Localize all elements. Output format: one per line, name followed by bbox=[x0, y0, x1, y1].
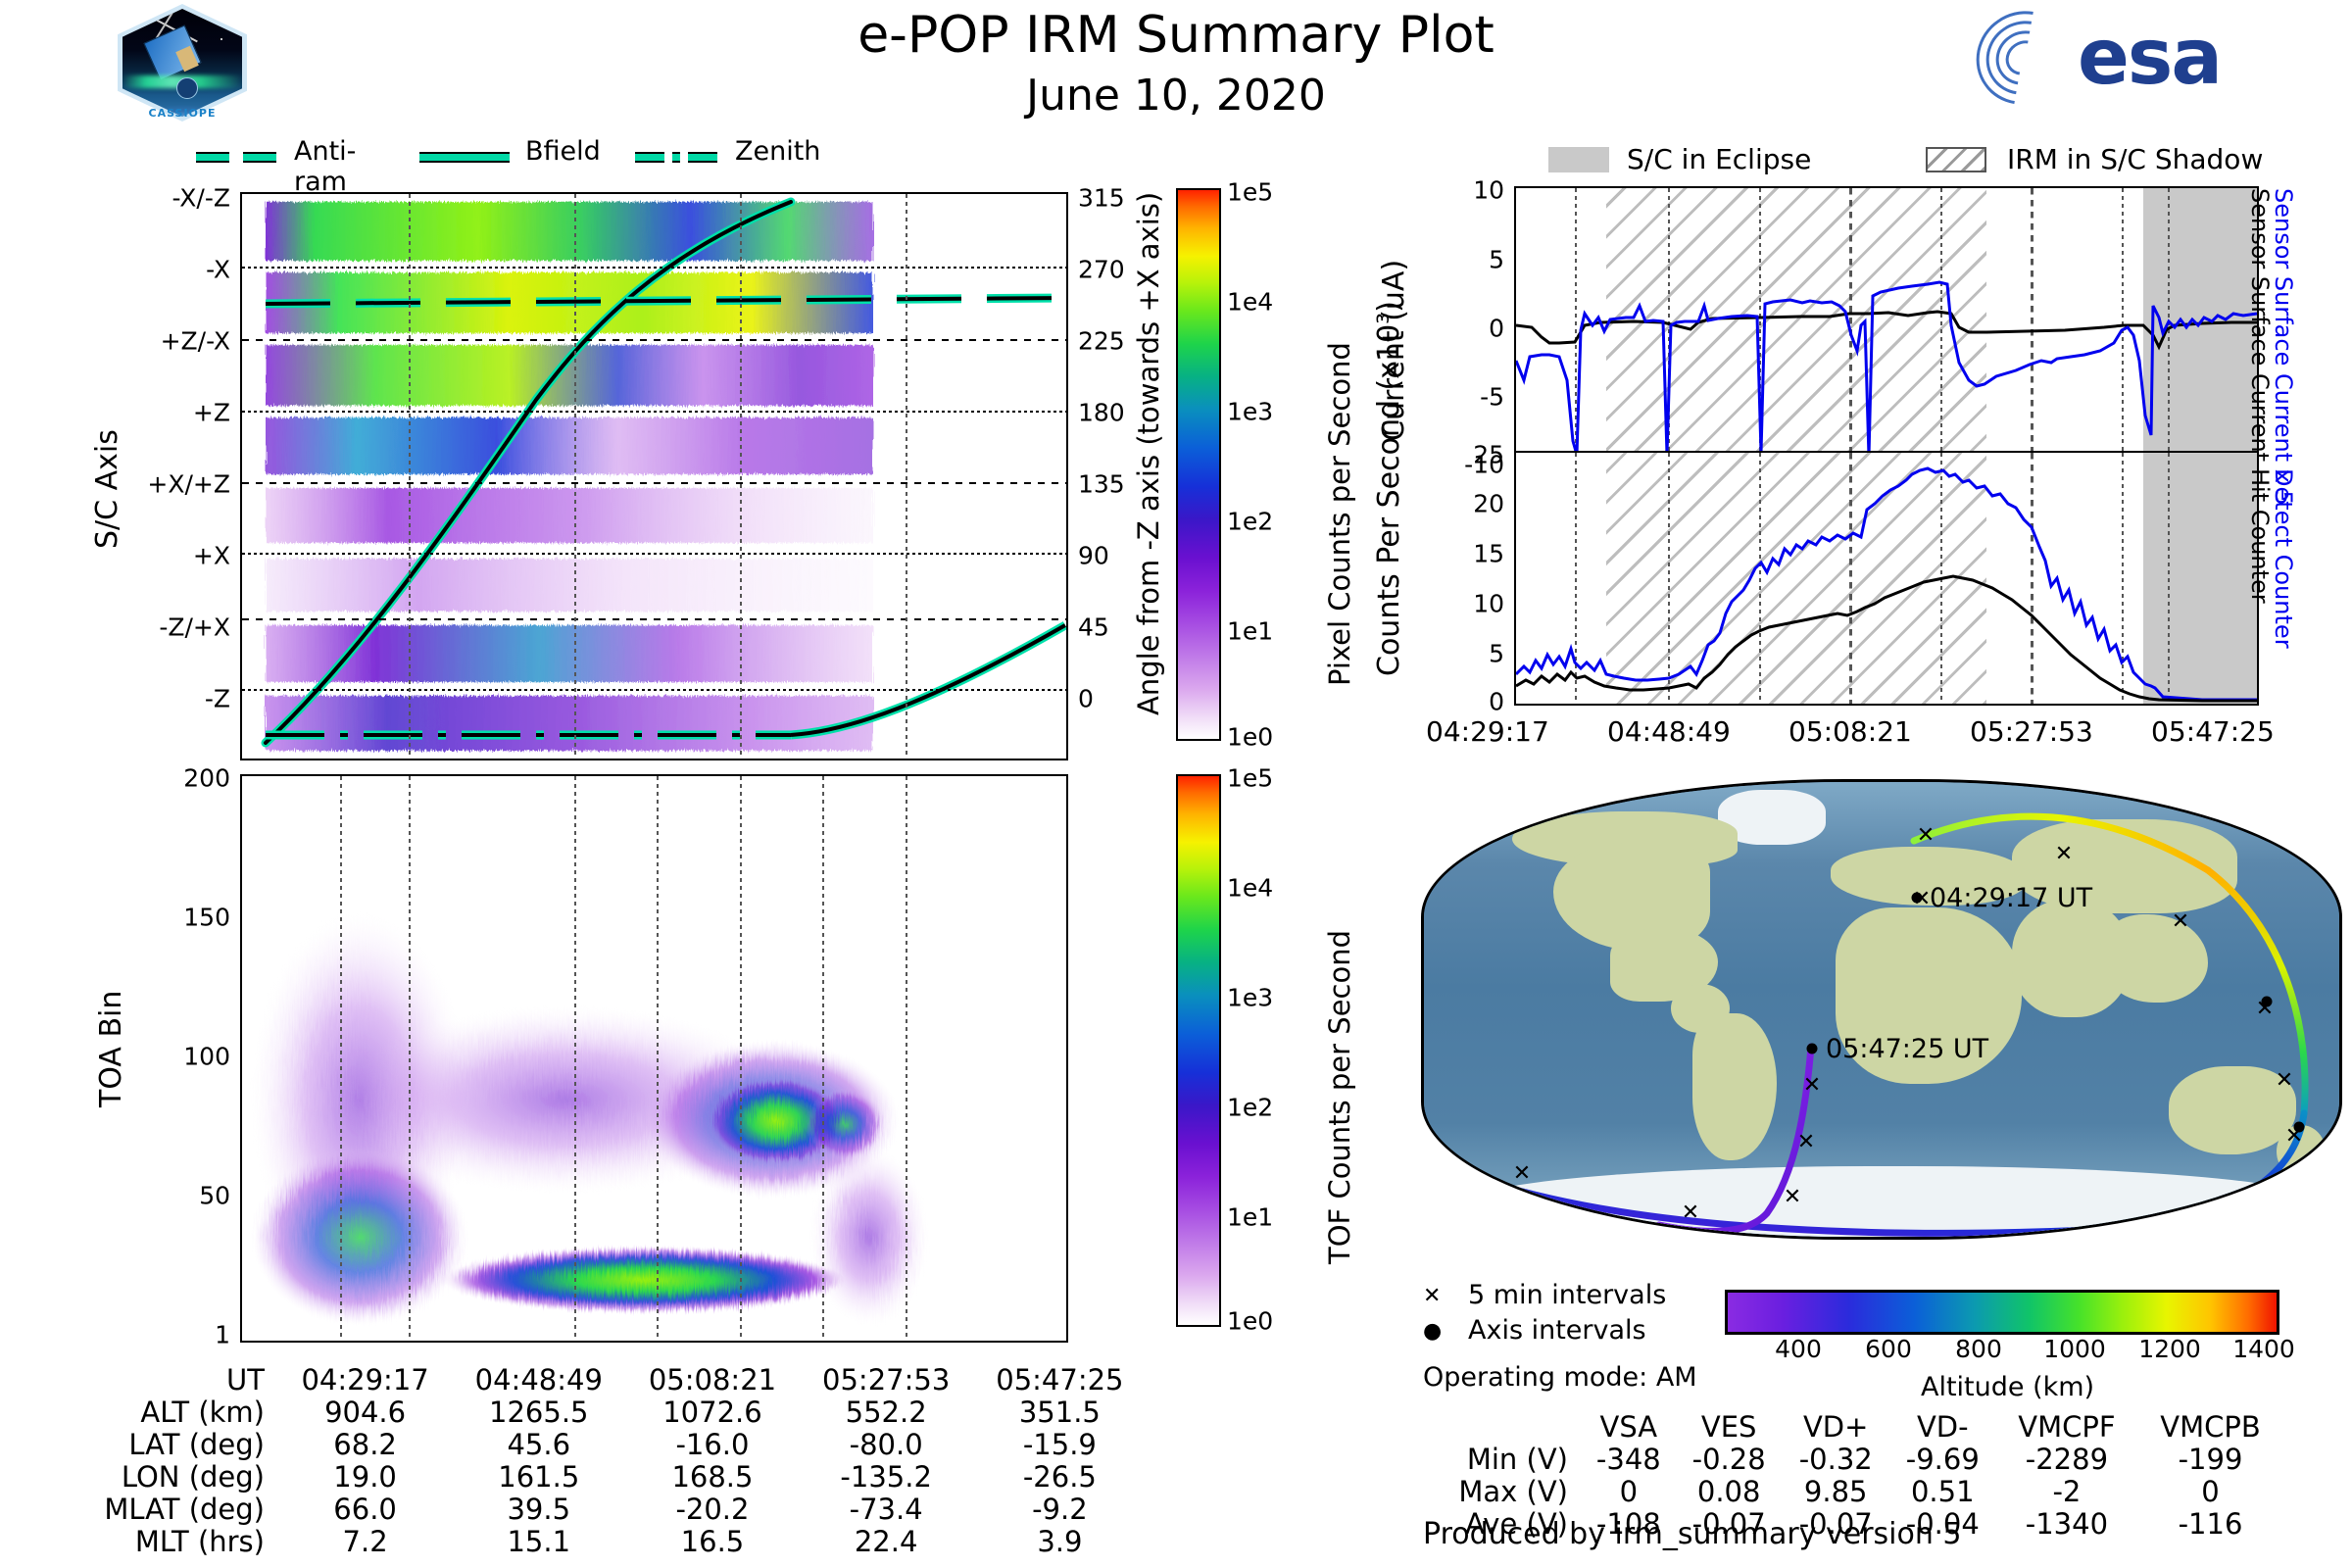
operating-mode: Operating mode: AM bbox=[1423, 1362, 1697, 1393]
alt-tick-800: 800 bbox=[1955, 1335, 2002, 1363]
interval-marker-x: ✕ bbox=[1917, 825, 1935, 847]
cassiope-logo-label: CASSIOPE bbox=[118, 107, 247, 120]
angle-ytick-6: 45 bbox=[1068, 613, 1109, 642]
counts-ytick-20: 20 bbox=[1473, 490, 1514, 518]
cb2-tick-1e0: 1e0 bbox=[1227, 1307, 1273, 1336]
table-row: Min (V) -348 -0.28 -0.32 -9.69 -2289 -19… bbox=[1421, 1444, 2283, 1476]
mlt-col-4: 3.9 bbox=[973, 1526, 1147, 1558]
cb1-tick-1e1: 1e1 bbox=[1227, 617, 1273, 646]
footer-produced-by: Produced by irm_summary version 5 bbox=[1423, 1517, 1961, 1551]
start-marker-dot bbox=[1912, 893, 1923, 904]
alt-tick-400: 400 bbox=[1775, 1335, 1822, 1363]
table-row: LAT (deg) 68.2 45.6 -16.0 -80.0 -15.9 bbox=[39, 1429, 1147, 1461]
angle-ytick-3: 180 bbox=[1068, 399, 1125, 427]
cassiope-logo: CASSIOPE bbox=[118, 4, 247, 122]
current-ytick-0: 0 bbox=[1489, 315, 1514, 343]
sc-axis-ytick-5: +X bbox=[193, 542, 240, 570]
cb1-tick-1e2: 1e2 bbox=[1227, 508, 1273, 536]
ave-vmcpf: -1340 bbox=[1996, 1508, 2137, 1541]
axis-interval-marker-dot bbox=[2294, 1122, 2305, 1133]
altitude-colorbar-label: Altitude (km) bbox=[1921, 1372, 2094, 1402]
counts-xtick-1: 04:48:49 bbox=[1607, 715, 1731, 748]
legend-anti-ram-label: Anti-ram bbox=[294, 136, 356, 197]
interval-marker-x: ✕ bbox=[1797, 1132, 1815, 1153]
current-ytick-10: 10 bbox=[1473, 176, 1514, 205]
row-label-ut: UT bbox=[39, 1364, 278, 1396]
shading-legend: S/C in Eclipse IRM in S/C Shadow bbox=[1548, 145, 2274, 178]
end-marker-dot bbox=[1807, 1044, 1818, 1054]
sc-axis-ytick-4: +X/+Z bbox=[147, 470, 240, 499]
alt-col-3: 552.2 bbox=[800, 1396, 973, 1429]
cb2-tick-1e1: 1e1 bbox=[1227, 1203, 1273, 1232]
max-vsa: 0 bbox=[1582, 1476, 1676, 1508]
lon-col-0: 19.0 bbox=[278, 1461, 452, 1494]
max-vdp: 9.85 bbox=[1783, 1476, 1889, 1508]
alt-tick-1400: 1400 bbox=[2232, 1335, 2295, 1363]
vrow-label-min: Min (V) bbox=[1421, 1444, 1582, 1476]
interval-marker-x: ✕ bbox=[1784, 1187, 1801, 1208]
orbit-map[interactable]: ✕ ✕ ✕ ✕ ✕ ✕ ✕ ✕ ✕ ✕ ✕ ✕ ✕ ✕ 04:29:17 UT … bbox=[1421, 779, 2342, 1240]
counts-ytick-0: 0 bbox=[1489, 688, 1514, 716]
mlat-col-4: -9.2 bbox=[973, 1494, 1147, 1526]
cb1-tick-1e5: 1e5 bbox=[1227, 178, 1273, 207]
alt-col-4: 351.5 bbox=[973, 1396, 1147, 1429]
altitude-colorbar bbox=[1725, 1290, 2279, 1335]
sc-axis-ytick-7: -Z bbox=[205, 685, 240, 713]
counts-ylabel: Counts Per Second (x10³) bbox=[1372, 431, 1407, 676]
toa-ytick-50: 50 bbox=[199, 1182, 240, 1210]
toa-bin-spectrogram-canvas bbox=[242, 776, 1066, 1341]
max-ves: 0.08 bbox=[1676, 1476, 1783, 1508]
cb2-tick-1e4: 1e4 bbox=[1227, 874, 1273, 903]
toa-ytick-150: 150 bbox=[183, 904, 240, 932]
axis-legend: Anti-ram Bfield Zenith bbox=[176, 140, 725, 173]
toa-bin-plot-area[interactable] bbox=[240, 774, 1068, 1343]
toa-ytick-100: 100 bbox=[183, 1043, 240, 1071]
cb2-tick-1e2: 1e2 bbox=[1227, 1094, 1273, 1122]
counts-ytick-15: 15 bbox=[1473, 540, 1514, 568]
esa-logo: esa bbox=[1972, 8, 2325, 102]
cassiope-badge-icon bbox=[176, 77, 198, 99]
tof-counts-colorbar-label: TOF Counts per Second bbox=[1323, 930, 1356, 1264]
lon-col-2: 168.5 bbox=[625, 1461, 799, 1494]
sc-axis-spectrogram-canvas bbox=[242, 194, 1066, 759]
current-right-label-black: Sensor Surface Current bbox=[2246, 188, 2274, 462]
vcol-vsa: VSA bbox=[1582, 1411, 1676, 1444]
row-label-lon: LON (deg) bbox=[39, 1461, 278, 1494]
ut-col-4: 05:47:25 bbox=[973, 1364, 1147, 1396]
sc-axis-ytick-3: +Z bbox=[193, 399, 240, 427]
alt-tick-1000: 1000 bbox=[2043, 1335, 2106, 1363]
lon-col-3: -135.2 bbox=[800, 1461, 973, 1494]
ut-col-1: 04:48:49 bbox=[452, 1364, 625, 1396]
current-panel: 10 5 0 -5 -10 bbox=[1514, 186, 2259, 470]
counts-series-canvas bbox=[1516, 453, 2257, 704]
legend-zenith-label: Zenith bbox=[735, 136, 820, 167]
table-row: ALT (km) 904.6 1265.5 1072.6 552.2 351.5 bbox=[39, 1396, 1147, 1429]
mlt-col-1: 15.1 bbox=[452, 1526, 625, 1558]
lat-col-3: -80.0 bbox=[800, 1429, 973, 1461]
row-label-alt: ALT (km) bbox=[39, 1396, 278, 1429]
alt-tick-1200: 1200 bbox=[2138, 1335, 2201, 1363]
sc-axis-ytick-1: -X bbox=[206, 256, 240, 284]
cb1-tick-1e4: 1e4 bbox=[1227, 288, 1273, 317]
sc-axis-ylabel: S/C Axis bbox=[90, 429, 124, 549]
min-vmcpf: -2289 bbox=[1996, 1444, 2137, 1476]
current-ytick-n5: -5 bbox=[1480, 383, 1514, 412]
interval-marker-x: ✕ bbox=[2172, 911, 2189, 933]
interval-marker-x: ✕ bbox=[2276, 1070, 2293, 1092]
max-vdm: 0.51 bbox=[1889, 1476, 1996, 1508]
legend-axis-intervals: ● Axis intervals bbox=[1423, 1321, 1697, 1362]
row-label-mlt: MLT (hrs) bbox=[39, 1526, 278, 1558]
mlat-col-2: -20.2 bbox=[625, 1494, 799, 1526]
current-ytick-5: 5 bbox=[1489, 246, 1514, 274]
map-start-time-label: 04:29:17 UT bbox=[1930, 883, 2092, 913]
cb1-tick-1e3: 1e3 bbox=[1227, 398, 1273, 426]
vcol-vdp: VD+ bbox=[1783, 1411, 1889, 1444]
angle-ytick-4: 135 bbox=[1068, 470, 1125, 499]
current-plot-area[interactable] bbox=[1514, 186, 2259, 470]
table-row: Max (V) 0 0.08 9.85 0.51 -2 0 bbox=[1421, 1476, 2283, 1508]
ut-col-0: 04:29:17 bbox=[278, 1364, 452, 1396]
alt-col-0: 904.6 bbox=[278, 1396, 452, 1429]
lat-col-2: -16.0 bbox=[625, 1429, 799, 1461]
mlt-col-0: 7.2 bbox=[278, 1526, 452, 1558]
table-header-row: VSA VES VD+ VD- VMCPF VMCPB bbox=[1421, 1411, 2283, 1444]
angle-ytick-2: 225 bbox=[1068, 327, 1125, 356]
cb2-tick-1e5: 1e5 bbox=[1227, 764, 1273, 793]
shadow-legend-label: IRM in S/C Shadow bbox=[2007, 143, 2263, 175]
alt-col-2: 1072.6 bbox=[625, 1396, 799, 1429]
min-vdp: -0.32 bbox=[1783, 1444, 1889, 1476]
legend-5min-label: 5 min intervals bbox=[1468, 1280, 1666, 1310]
table-row: LON (deg) 19.0 161.5 168.5 -135.2 -26.5 bbox=[39, 1461, 1147, 1494]
lat-col-1: 45.6 bbox=[452, 1429, 625, 1461]
vcol-vdm: VD- bbox=[1889, 1411, 1996, 1444]
sc-axis-panel: -X/-Z -X +Z/-X +Z +X/+Z +X -Z/+X -Z 315 … bbox=[240, 192, 1068, 760]
orbit-track bbox=[1424, 782, 2342, 1240]
tof-counts-colorbar bbox=[1176, 774, 1221, 1327]
sc-axis-ytick-2: +Z/-X bbox=[161, 327, 240, 356]
counts-panel: 25 20 15 10 5 0 bbox=[1514, 451, 2259, 706]
mlt-col-2: 16.5 bbox=[625, 1526, 799, 1558]
pixel-counts-colorbar-label: Pixel Counts per Second bbox=[1323, 342, 1356, 686]
toa-ytick-1: 1 bbox=[215, 1321, 240, 1349]
min-vsa: -348 bbox=[1582, 1444, 1676, 1476]
axis-interval-marker-dot bbox=[1611, 1216, 1622, 1227]
sc-axis-ytick-0: -X/-Z bbox=[172, 184, 240, 213]
vcol-vmcpb: VMCPB bbox=[2137, 1411, 2283, 1444]
eclipse-legend-label: S/C in Eclipse bbox=[1627, 143, 1811, 175]
vrow-label-max: Max (V) bbox=[1421, 1476, 1582, 1508]
world-map-canvas: ✕ ✕ ✕ ✕ ✕ ✕ ✕ ✕ ✕ ✕ ✕ ✕ ✕ ✕ 04:29:17 UT … bbox=[1421, 779, 2342, 1240]
min-vdm: -9.69 bbox=[1889, 1444, 1996, 1476]
interval-marker-x: ✕ bbox=[1513, 1163, 1531, 1185]
sc-axis-ytick-6: -Z/+X bbox=[159, 613, 240, 642]
alt-tick-600: 600 bbox=[1865, 1335, 1912, 1363]
counts-plot-area[interactable] bbox=[1514, 451, 2259, 706]
row-label-mlat: MLAT (deg) bbox=[39, 1494, 278, 1526]
map-end-time-label: 05:47:25 UT bbox=[1826, 1034, 1988, 1064]
toa-ytick-200: 200 bbox=[183, 764, 240, 793]
shadow-swatch-icon bbox=[1926, 147, 1986, 172]
max-vmcpf: -2 bbox=[1996, 1476, 2137, 1508]
legend-axis-label: Axis intervals bbox=[1468, 1315, 1646, 1346]
sc-axis-plot-area[interactable] bbox=[240, 192, 1068, 760]
counts-ytick-10: 10 bbox=[1473, 590, 1514, 618]
min-ves: -0.28 bbox=[1676, 1444, 1783, 1476]
max-vmcpb: 0 bbox=[2137, 1476, 2283, 1508]
current-right-label-blue: Sensor Surface Current x 5 bbox=[2270, 188, 2297, 506]
angle-ytick-5: 90 bbox=[1068, 542, 1109, 570]
interval-marker-x: ✕ bbox=[1803, 1075, 1821, 1097]
mlat-col-3: -73.4 bbox=[800, 1494, 973, 1526]
counts-xtick-0: 04:29:17 bbox=[1426, 715, 1549, 748]
angle-ytick-7: 0 bbox=[1068, 685, 1094, 713]
cb2-tick-1e3: 1e3 bbox=[1227, 984, 1273, 1012]
lat-col-0: 68.2 bbox=[278, 1429, 452, 1461]
angle-ytick-0: 315 bbox=[1068, 184, 1125, 213]
counts-xtick-2: 05:08:21 bbox=[1788, 715, 1912, 748]
table-row: UT 04:29:17 04:48:49 05:08:21 05:27:53 0… bbox=[39, 1364, 1147, 1396]
vcol-ves: VES bbox=[1676, 1411, 1783, 1444]
pixel-counts-colorbar bbox=[1176, 188, 1221, 741]
counts-right-label-black: Hit Counter bbox=[2246, 468, 2274, 604]
counts-ytick-25: 25 bbox=[1473, 441, 1514, 469]
interval-marker-x: ✕ bbox=[1682, 1202, 1699, 1224]
counts-right-label-blue: Detect Counter bbox=[2270, 468, 2297, 649]
interval-marker-x: ✕ bbox=[2268, 1210, 2285, 1232]
dot-marker-icon: ● bbox=[1423, 1319, 1442, 1344]
lon-col-4: -26.5 bbox=[973, 1461, 1147, 1494]
map-legend: ✕ 5 min intervals ● Axis intervals Opera… bbox=[1423, 1284, 1697, 1393]
toa-bin-panel: 200 150 100 50 1 bbox=[240, 774, 1068, 1343]
eclipse-swatch-icon bbox=[1548, 147, 1609, 172]
ut-col-3: 05:27:53 bbox=[800, 1364, 973, 1396]
vcol-vmcpf: VMCPF bbox=[1996, 1411, 2137, 1444]
cb1-tick-1e0: 1e0 bbox=[1227, 723, 1273, 752]
counts-ytick-5: 5 bbox=[1489, 640, 1514, 668]
ephemeris-table: UT 04:29:17 04:48:49 05:08:21 05:27:53 0… bbox=[39, 1364, 1147, 1558]
x-marker-icon: ✕ bbox=[1423, 1284, 1441, 1308]
ave-vmcpb: -116 bbox=[2137, 1508, 2283, 1541]
table-row: MLAT (deg) 66.0 39.5 -20.2 -73.4 -9.2 bbox=[39, 1494, 1147, 1526]
mlt-col-3: 22.4 bbox=[800, 1526, 973, 1558]
angle-axis-label: Angle from -Z axis (towards +X axis) bbox=[1132, 192, 1165, 715]
lon-col-1: 161.5 bbox=[452, 1461, 625, 1494]
alt-col-1: 1265.5 bbox=[452, 1396, 625, 1429]
row-label-lat: LAT (deg) bbox=[39, 1429, 278, 1461]
angle-ytick-1: 270 bbox=[1068, 256, 1125, 284]
lat-col-4: -15.9 bbox=[973, 1429, 1147, 1461]
interval-marker-x: ✕ bbox=[2055, 844, 2073, 865]
current-series-canvas bbox=[1516, 188, 2257, 468]
counts-xtick-3: 05:27:53 bbox=[1970, 715, 2093, 748]
toa-bin-ylabel: TOA Bin bbox=[94, 991, 128, 1107]
table-row: MLT (hrs) 7.2 15.1 16.5 22.4 3.9 bbox=[39, 1526, 1147, 1558]
mlat-col-0: 66.0 bbox=[278, 1494, 452, 1526]
counts-xtick-4: 05:47:25 bbox=[2151, 715, 2275, 748]
interval-marker-x: ✕ bbox=[2287, 1181, 2305, 1202]
legend-bfield-label: Bfield bbox=[525, 136, 601, 167]
ut-col-2: 05:08:21 bbox=[625, 1364, 799, 1396]
esa-wordmark: esa bbox=[2078, 14, 2221, 102]
axis-interval-marker-dot bbox=[2262, 997, 2273, 1007]
min-vmcpb: -199 bbox=[2137, 1444, 2283, 1476]
mlat-col-1: 39.5 bbox=[452, 1494, 625, 1526]
